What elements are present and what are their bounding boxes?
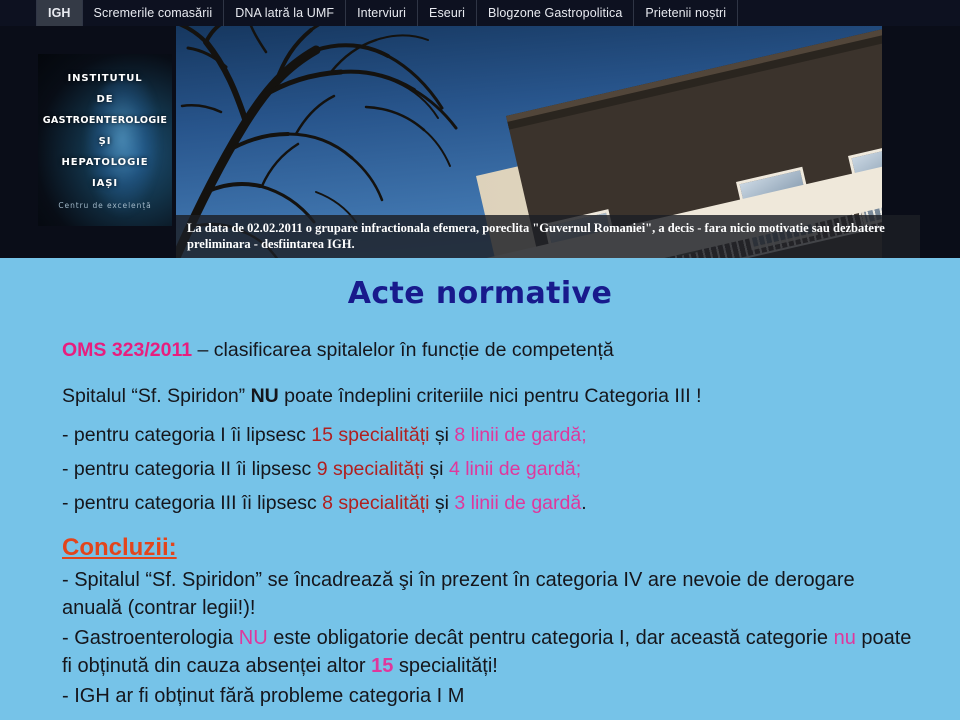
spiridon-prefix: Spitalul “Sf. Spiridon”	[62, 385, 251, 407]
conclusion-3: - IGH ar fi obținut fără probleme catego…	[62, 682, 916, 710]
logo-line-hepatologie: HEPATOLOGIE	[38, 152, 172, 173]
banner-caption: La data de 02.02.2011 o grupare infracti…	[176, 215, 920, 258]
logo-line-institutul: INSTITUTUL	[38, 68, 172, 89]
logo-line-iasi: IAȘI	[38, 173, 172, 194]
category-specialities: 15 specialități	[311, 424, 429, 446]
category-line-2: - pentru categoria II îi lipsesc 9 speci…	[62, 452, 916, 486]
nav-item-label: Eseuri	[429, 6, 465, 20]
logo-line-gastroenterologie: GASTROENTEROLOGIE	[38, 110, 172, 131]
nav-item-eseuri[interactable]: Eseuri	[418, 0, 477, 26]
nav-right-spacer	[738, 0, 960, 26]
category-prefix: - pentru categoria I îi lipsesc	[62, 424, 311, 446]
conclusion-2-part2: este obligatorie decât pentru categoria …	[268, 627, 834, 649]
nav-item-igh[interactable]: IGH	[36, 0, 83, 26]
site-header: La data de 02.02.2011 o grupare infracti…	[0, 26, 960, 258]
nav-item-scremerile-comasarii[interactable]: Scremerile comasării	[83, 0, 225, 26]
nav-item-prietenii-nostri[interactable]: Prietenii noștri	[634, 0, 738, 26]
category-conjunction: și	[429, 424, 454, 446]
category-terminator: ;	[576, 458, 581, 480]
category-guard-lines: 4 linii de gardă	[449, 458, 576, 480]
conclusion-2: - Gastroenterologia NU este obligatorie …	[62, 624, 916, 680]
nav-item-label: IGH	[48, 6, 71, 20]
conclusions-body: - Spitalul “Sf. Spiridon” se încadrează …	[62, 566, 916, 710]
spiridon-suffix: poate îndeplini criteriile nici pentru C…	[279, 385, 702, 407]
logo-line-de: DE	[38, 89, 172, 110]
slide-title: Acte normative	[62, 276, 916, 311]
category-prefix: - pentru categoria II îi lipsesc	[62, 458, 317, 480]
nav-item-label: Interviuri	[357, 6, 406, 20]
category-specialities: 9 specialități	[317, 458, 424, 480]
logo-tagline: Centru de excelență	[38, 201, 172, 210]
category-line-3: - pentru categoria III îi lipsesc 8 spec…	[62, 486, 916, 520]
conclusion-2-nu-upper: NU	[239, 627, 268, 649]
conclusion-2-part4: specialități!	[393, 655, 498, 677]
institute-logo[interactable]: INSTITUTUL DE GASTROENTEROLOGIE ȘI HEPAT…	[38, 54, 172, 226]
nav-item-label: DNA latră la UMF	[235, 6, 334, 20]
category-conjunction: și	[429, 492, 454, 514]
nav-item-label: Scremerile comasării	[94, 6, 213, 20]
conclusion-2-part1: - Gastroenterologia	[62, 627, 239, 649]
logo-line-si: ȘI	[38, 131, 172, 152]
nav-left-spacer	[0, 0, 36, 26]
oms-line: OMS 323/2011 – clasificarea spitalelor î…	[62, 333, 916, 367]
spiridon-nu: NU	[251, 385, 279, 407]
conclusion-1: - Spitalul “Sf. Spiridon” se încadrează …	[62, 566, 916, 622]
spiridon-line: Spitalul “Sf. Spiridon” NU poate îndepli…	[62, 379, 916, 413]
banner-photo: La data de 02.02.2011 o grupare infracti…	[176, 26, 920, 258]
category-specialities: 8 specialități	[322, 492, 429, 514]
logo-text-block: INSTITUTUL DE GASTROENTEROLOGIE ȘI HEPAT…	[38, 54, 172, 210]
page-root: IGH Scremerile comasării DNA latră la UM…	[0, 0, 960, 720]
category-guard-lines: 8 linii de gardă	[454, 424, 581, 446]
category-prefix: - pentru categoria III îi lipsesc	[62, 492, 322, 514]
oms-code: OMS 323/2011	[62, 339, 192, 361]
category-terminator: ;	[581, 424, 586, 446]
conclusion-2-number: 15	[371, 655, 393, 677]
nav-item-label: Prietenii noștri	[645, 6, 726, 20]
nav-item-interviuri[interactable]: Interviuri	[346, 0, 418, 26]
category-terminator: .	[581, 492, 586, 514]
slide-content: Acte normative OMS 323/2011 – clasificar…	[0, 258, 960, 720]
conclusion-2-nu-lower: nu	[834, 627, 856, 649]
oms-description: – clasificarea spitalelor în funcție de …	[192, 339, 614, 361]
nav-item-label: Blogzone Gastropolitica	[488, 6, 622, 20]
category-line-1: - pentru categoria I îi lipsesc 15 speci…	[62, 418, 916, 452]
category-guard-lines: 3 linii de gardă	[454, 492, 581, 514]
top-navigation-bar: IGH Scremerile comasării DNA latră la UM…	[0, 0, 960, 26]
category-conjunction: și	[424, 458, 449, 480]
conclusions-heading: Concluzii:	[62, 534, 177, 562]
nav-item-dna-latra-la-umf[interactable]: DNA latră la UMF	[224, 0, 346, 26]
nav-item-blogzone-gastropolitica[interactable]: Blogzone Gastropolitica	[477, 0, 634, 26]
